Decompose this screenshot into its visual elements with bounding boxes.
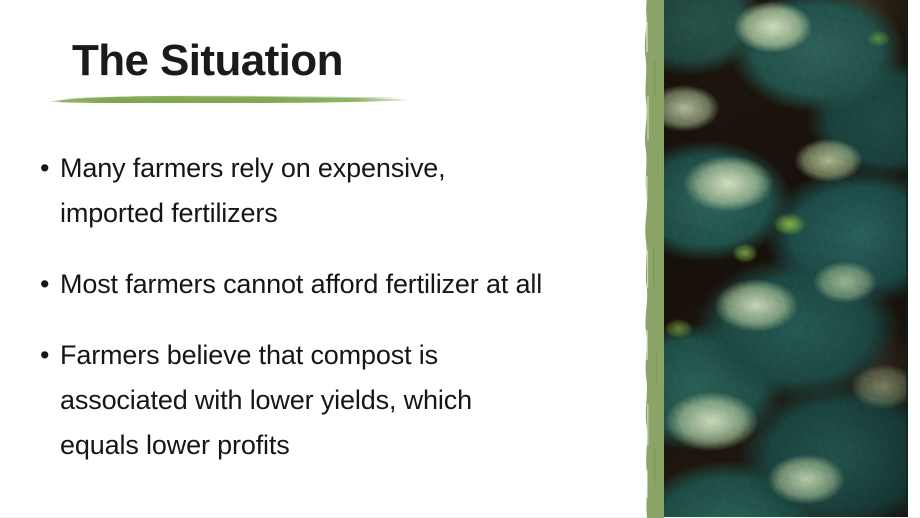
cabbage-field-photo: [660, 0, 908, 518]
green-brush-band: [638, 0, 664, 518]
slide: The Situation: [0, 0, 920, 518]
bullet-text: Farmers believe that compost is associat…: [60, 333, 632, 468]
bullet-line: Many farmers rely on expensive,: [60, 146, 632, 191]
photo-right-edge: [906, 0, 908, 518]
bullet-line: Farmers believe that compost is: [60, 333, 632, 378]
bullet-text: Most farmers cannot afford fertilizer at…: [60, 262, 632, 307]
bullet-text: Many farmers rely on expensive, imported…: [60, 146, 632, 236]
list-item: • Most farmers cannot afford fertilizer …: [40, 262, 632, 307]
list-item: • Farmers believe that compost is associ…: [40, 333, 632, 468]
list-item: • Many farmers rely on expensive, import…: [40, 146, 632, 236]
slide-content: The Situation: [0, 0, 640, 518]
page-title: The Situation: [72, 38, 552, 84]
bullet-list: • Many farmers rely on expensive, import…: [40, 146, 632, 468]
bullet-line: imported fertilizers: [60, 191, 632, 236]
title-brushstroke-underline: [46, 90, 418, 108]
photo-vignette: [660, 0, 908, 518]
bullet-line: associated with lower yields, which: [60, 378, 632, 423]
bullet-line: Most farmers cannot afford fertilizer at…: [60, 262, 632, 307]
bullet-point-icon: •: [40, 333, 60, 378]
bullet-line: equals lower profits: [60, 423, 632, 468]
title-block: The Situation: [72, 38, 552, 84]
photo-panel: [638, 0, 908, 518]
bullet-point-icon: •: [40, 262, 60, 307]
bullet-point-icon: •: [40, 146, 60, 191]
